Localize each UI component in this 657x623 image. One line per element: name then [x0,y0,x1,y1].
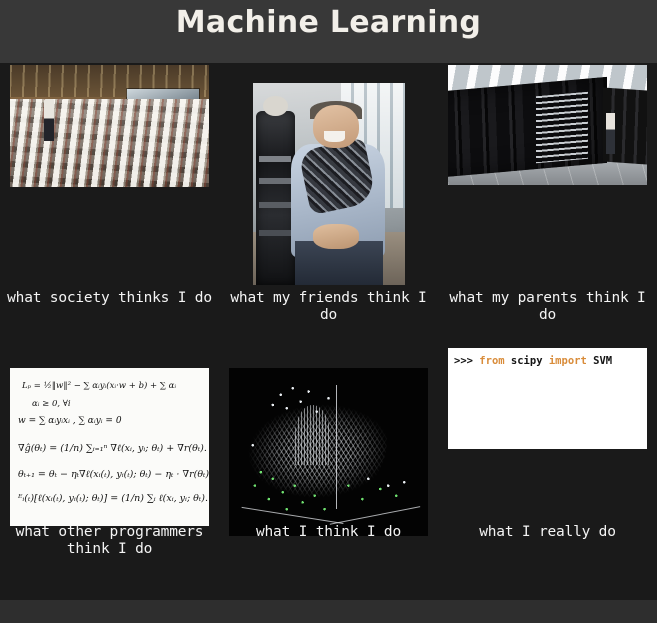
technician-figure [606,113,615,154]
caption-other-programmers: what other programmers think I do [2,524,217,558]
caption-i-think: what I think I do [221,524,436,541]
meme-cell-i-really-do: >>> from scipy import SVM what I really … [438,331,657,599]
meme-cell-parents: what my parents think I do [438,63,657,331]
caption-friends: what my friends think I do [221,290,436,324]
man-with-robot-arm-photo [253,83,405,285]
figure-friends [219,81,438,285]
lecture-hall-of-robots-photo [10,65,209,187]
meme-cell-other-programmers: Lₚ = ½‖w‖² − ∑ αᵢyᵢ(xᵢ·w + b) + ∑ αᵢ αᵢ … [0,331,219,599]
robot-rows [10,99,209,187]
caption-i-really-do: what I really do [440,524,655,541]
mans-smile [324,131,345,141]
footer-band [0,600,657,623]
presenter-figure [44,99,54,140]
caption-society: what society thinks I do [2,290,217,307]
figure-plot [219,366,438,536]
math-equation-line-5: θₜ₊₁ = θₜ − ηₜ∇ℓ(xᵢ(ₜ), yᵢ(ₜ); θₜ) − ηₜ … [18,469,209,480]
repl-symbol-name: SVM [587,355,612,367]
server-room-photo [448,65,647,185]
plot-points-white [229,368,428,536]
meme-cell-friends: what my friends think I do [219,63,438,331]
grid-row-top: what society thinks I do what my fri [0,63,657,331]
figure-parents [438,63,657,185]
server-status-lights [536,92,588,164]
caption-parents: what my parents think I do [440,290,655,324]
3d-svm-surface-plot-image [229,368,428,536]
grid-row-bottom: Lₚ = ½‖w‖² − ∑ αᵢyᵢ(xᵢ·w + b) + ∑ αᵢ αᵢ … [0,331,657,599]
math-equation-line-3: w = ∑ αᵢyᵢxᵢ , ∑ αᵢyᵢ = 0 [18,416,122,426]
repl-prompt: >>> [454,355,479,367]
math-equation-line-6: ᴱᵢ(ₜ)[ℓ(xᵢ(ₜ), yᵢ(ₜ); θₜ)] = (1/n) ∑ᵢ ℓ(… [18,493,208,504]
math-equation-line-4: ∇ĝ(θₜ) = (1/n) ∑ᵢ₌₁ⁿ ∇ℓ(xᵢ, yᵢ; θₜ) + ∇r… [18,443,207,454]
math-equation-line-2: αᵢ ≥ 0, ∀i [32,399,71,409]
meme-grid: what society thinks I do what my fri [0,63,657,600]
repl-code-line: >>> from scipy import SVM [454,354,612,368]
math-equation-line-1: Lₚ = ½‖w‖² − ∑ αᵢyᵢ(xᵢ·w + b) + ∑ αᵢ [22,381,176,391]
repl-keyword-import: import [549,355,587,367]
meme-cell-i-think: what I think I do [219,331,438,599]
mans-clasped-hands [313,224,359,248]
page-title: Machine Learning [0,4,657,42]
figure-math: Lₚ = ½‖w‖² − ∑ αᵢyᵢ(xᵢ·w + b) + ∑ αᵢ αᵢ … [0,366,219,526]
python-repl-screenshot: >>> from scipy import SVM [448,348,647,449]
svm-equations-image: Lₚ = ½‖w‖² − ∑ αᵢyᵢ(xᵢ·w + b) + ∑ αᵢ αᵢ … [10,368,209,526]
repl-keyword-from: from [479,355,504,367]
figure-society [0,63,219,187]
meme-cell-society: what society thinks I do [0,63,219,331]
humanoid-robot [256,111,296,285]
figure-repl: >>> from scipy import SVM [438,346,657,449]
repl-module-name: scipy [505,355,549,367]
